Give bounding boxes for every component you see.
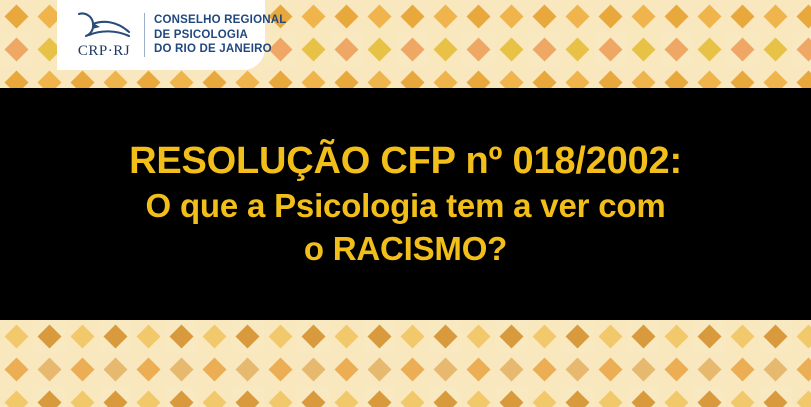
decorative-pattern-bottom <box>0 320 811 407</box>
poster-canvas: CRP·RJ CONSELHO REGIONAL DE PSICOLOGIA D… <box>0 0 811 407</box>
headline-line-3: o RACISMO? <box>304 227 507 270</box>
headline-block: RESOLUÇÃO CFP nº 018/2002: O que a Psico… <box>0 88 811 320</box>
logo-acronym: CRP·RJ <box>78 43 130 60</box>
organization-line-1: CONSELHO REGIONAL <box>154 13 286 28</box>
organization-line-3: DO RIO DE JANEIRO <box>154 42 286 57</box>
organization-line-2: DE PSICOLOGIA <box>154 28 286 43</box>
logo-divider <box>144 13 145 57</box>
logo-card: CRP·RJ CONSELHO REGIONAL DE PSICOLOGIA D… <box>57 0 265 70</box>
headline-line-2: O que a Psicologia tem a ver com <box>146 184 666 227</box>
crp-rj-logo: CRP·RJ <box>67 10 141 60</box>
organization-name: CONSELHO REGIONAL DE PSICOLOGIA DO RIO D… <box>154 13 286 57</box>
open-book-bird-icon <box>73 10 135 42</box>
headline-line-1: RESOLUÇÃO CFP nº 018/2002: <box>129 138 682 184</box>
